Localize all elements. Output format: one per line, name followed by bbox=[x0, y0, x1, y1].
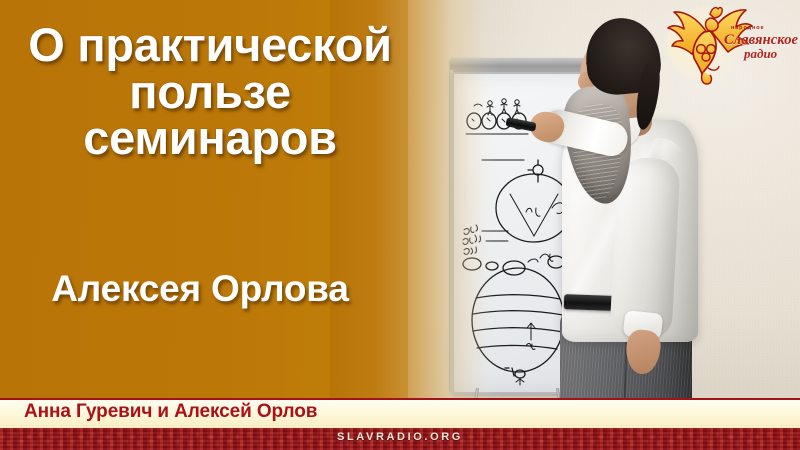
title-line-2: пользе bbox=[0, 69, 420, 116]
logo-main-word: Славянское bbox=[724, 33, 794, 48]
logo-kicker: народное bbox=[731, 26, 794, 32]
page-title: О практической пользе семинаров bbox=[0, 22, 420, 162]
title-line-3: семинаров bbox=[0, 115, 420, 162]
video-thumbnail: О практической пользе семинаров Алексея … bbox=[0, 0, 800, 450]
presenter-names: Анна Гуревич и Алексей Орлов bbox=[24, 401, 317, 423]
title-line-1: О практической bbox=[0, 22, 420, 69]
logo-sub-word: радио bbox=[744, 47, 794, 60]
slavic-radio-logo[interactable]: народное Славянское радио bbox=[664, 4, 792, 86]
logo-wordmark: народное Славянское радио bbox=[724, 26, 794, 60]
site-url: SLAVRADIO.ORG bbox=[0, 431, 800, 443]
subtitle: Алексея Орлова bbox=[0, 268, 400, 310]
